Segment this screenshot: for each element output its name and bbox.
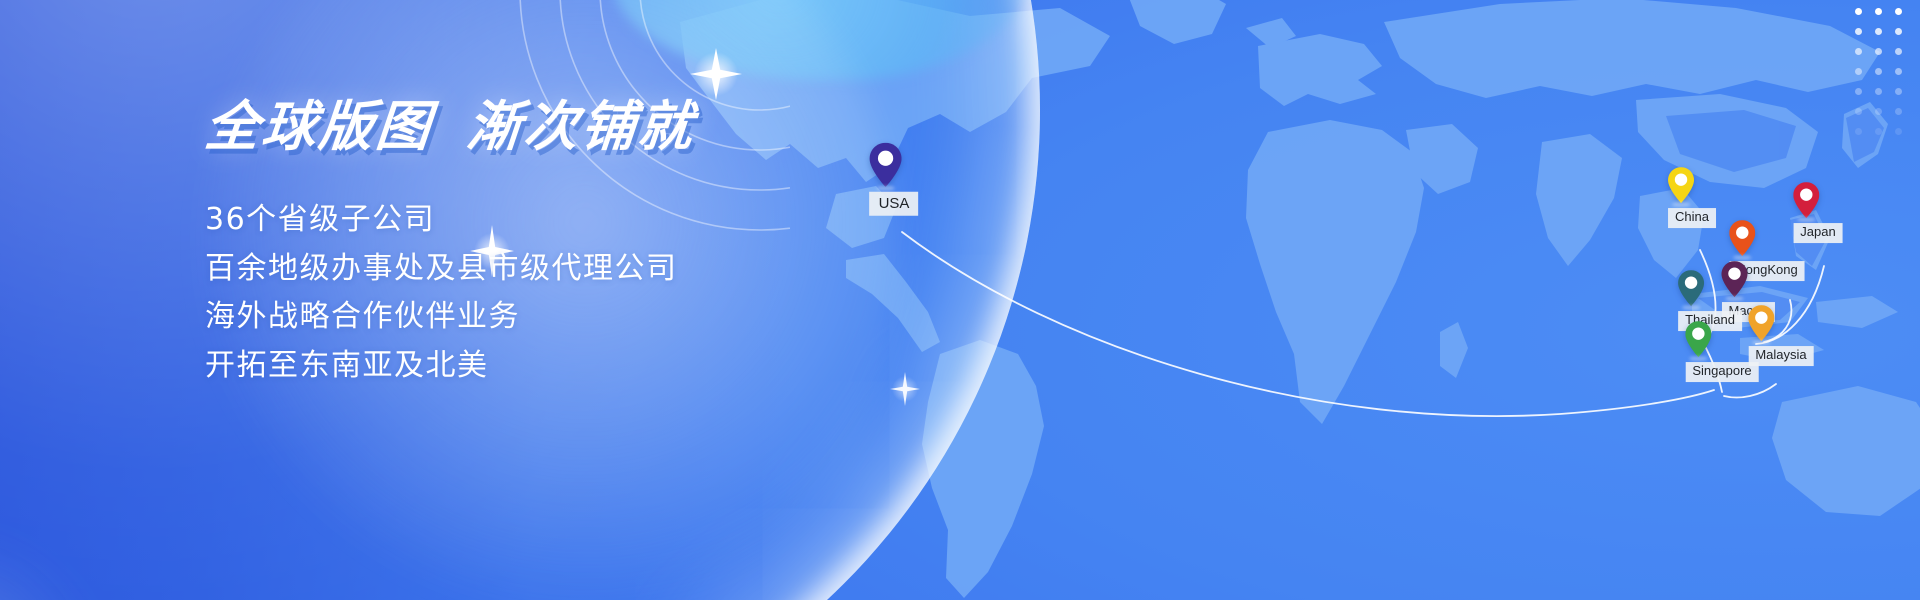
map-pin-icon — [870, 143, 902, 187]
title-part-1: 全球版图 — [202, 95, 436, 158]
pin-shadow — [1682, 305, 1700, 310]
list-item: 36个省级子公司 — [205, 196, 695, 245]
map-marker-usa[interactable]: USA — [870, 143, 919, 216]
pin-shadow — [1752, 340, 1770, 345]
list-item: 海外战略合作伙伴业务 — [205, 293, 695, 342]
sparkle-icon-large — [688, 46, 744, 102]
global-map-banner: 全球版图渐次铺就 36个省级子公司 百余地级办事处及县市级代理公司 海外战略合作… — [0, 0, 1920, 600]
map-pin-icon — [1729, 220, 1755, 256]
globe-polar-cap — [612, 0, 1032, 80]
map-marker-label: USA — [870, 192, 919, 216]
pin-shadow — [877, 186, 895, 191]
pin-shadow — [1689, 356, 1707, 361]
banner-bullet-list: 36个省级子公司 百余地级办事处及县市级代理公司 海外战略合作伙伴业务 开拓至东… — [205, 196, 695, 390]
banner-text-block: 全球版图渐次铺就 36个省级子公司 百余地级办事处及县市级代理公司 海外战略合作… — [205, 100, 695, 390]
map-pin-icon — [1793, 182, 1819, 218]
map-pin-icon — [1678, 270, 1704, 306]
map-marker-label: China — [1668, 208, 1716, 228]
sparkle-icon-small — [890, 372, 920, 406]
title-part-2: 渐次铺就 — [464, 95, 698, 158]
page-title: 全球版图渐次铺就 — [203, 100, 698, 154]
map-marker-malaysia[interactable]: Malaysia — [1748, 305, 1813, 366]
list-item: 百余地级办事处及县市级代理公司 — [205, 245, 695, 294]
dot-grid-decoration — [1855, 8, 1902, 148]
map-pin-icon — [1668, 167, 1694, 203]
pin-shadow — [1733, 255, 1751, 260]
map-marker-label: Malaysia — [1748, 346, 1813, 366]
pin-shadow — [1672, 202, 1690, 207]
map-marker-china[interactable]: China — [1668, 167, 1716, 228]
list-item: 开拓至东南亚及北美 — [205, 342, 695, 391]
map-pin-icon — [1685, 321, 1711, 357]
map-pin-icon — [1748, 305, 1774, 341]
